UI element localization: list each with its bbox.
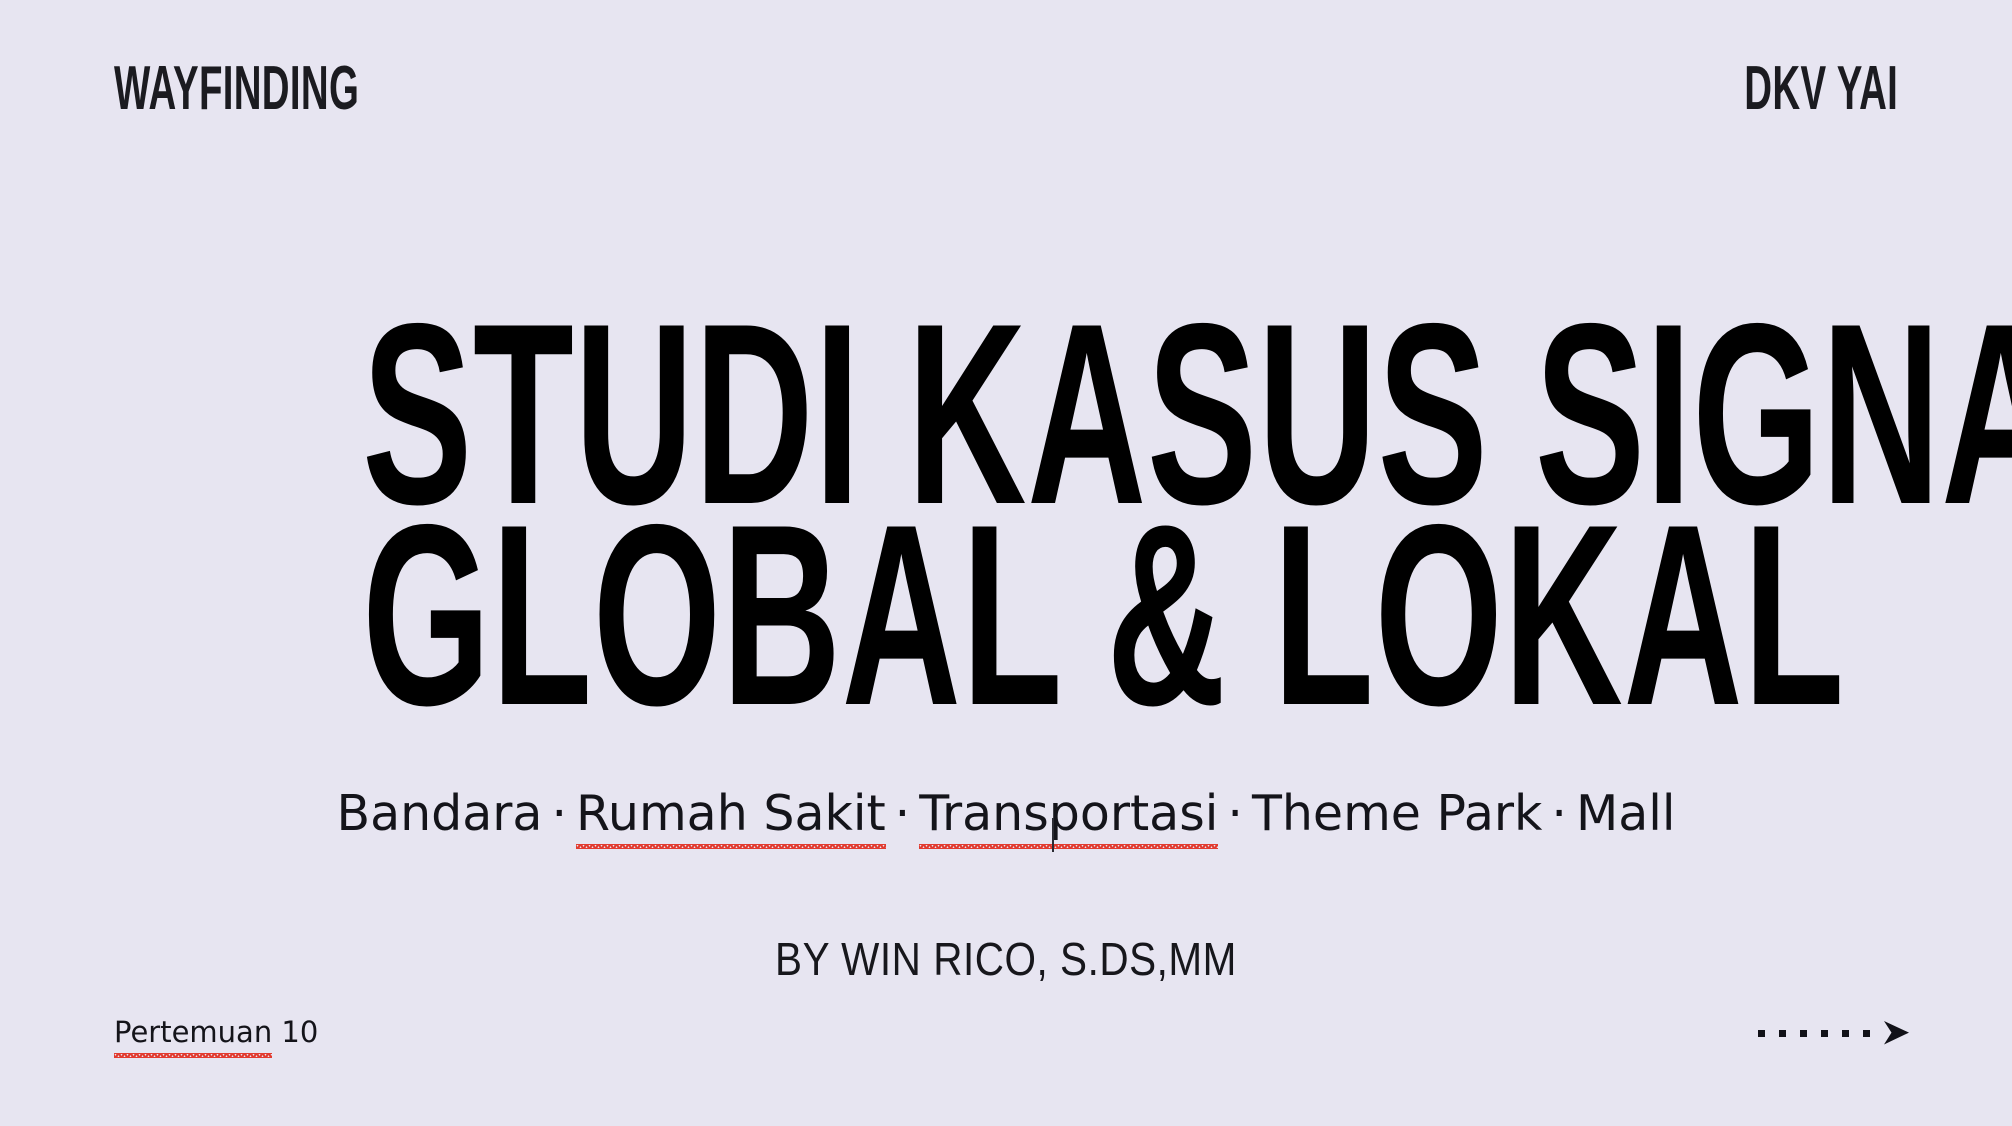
arrow-trail-dot — [1863, 1030, 1870, 1037]
subtitle-separator-dot: · — [1218, 785, 1252, 842]
text-cursor-caret — [1052, 818, 1054, 852]
arrow-right-dotted-icon — [1758, 1020, 1912, 1046]
subtitle-separator-dot: · — [1542, 785, 1576, 842]
arrow-trail-dot — [1821, 1030, 1828, 1037]
author-byline: BY WIN RICO, S.DS,MM — [121, 936, 1892, 982]
header-course-label: WAYFINDING — [114, 58, 359, 120]
footer-meeting-number: 10 — [272, 1015, 318, 1049]
title-line-2: GLOBAL & LOKAL — [362, 501, 1650, 728]
arrow-trail-dot — [1800, 1030, 1807, 1037]
slide-canvas: WAYFINDING DKV YAI STUDI KASUS SIGNAGE G… — [0, 0, 2012, 1126]
arrow-trail-dot — [1779, 1030, 1786, 1037]
footer-meeting-label: Pertemuan 10 — [114, 1018, 318, 1047]
arrow-trail-dot — [1758, 1030, 1765, 1037]
arrow-trail-dot — [1842, 1030, 1849, 1037]
subtitle-item: Bandara — [336, 785, 542, 842]
slide-title: STUDI KASUS SIGNAGE GLOBAL & LOKAL — [0, 300, 2012, 728]
subtitle-item: Transportasi — [919, 789, 1218, 838]
header-program-label: DKV YAI — [1744, 58, 1898, 120]
subtitle-item: Rumah Sakit — [576, 789, 886, 838]
subtitle-separator-dot: · — [886, 785, 920, 842]
subtitle-separator-dot: · — [542, 785, 576, 842]
subtitle-item: Mall — [1576, 785, 1676, 842]
subtitle-topic-list: Bandara·Rumah Sakit·Transportasi·Theme P… — [0, 789, 2012, 838]
footer-misspelled-word: Pertemuan — [114, 1018, 272, 1047]
subtitle-item: Theme Park — [1252, 785, 1542, 842]
